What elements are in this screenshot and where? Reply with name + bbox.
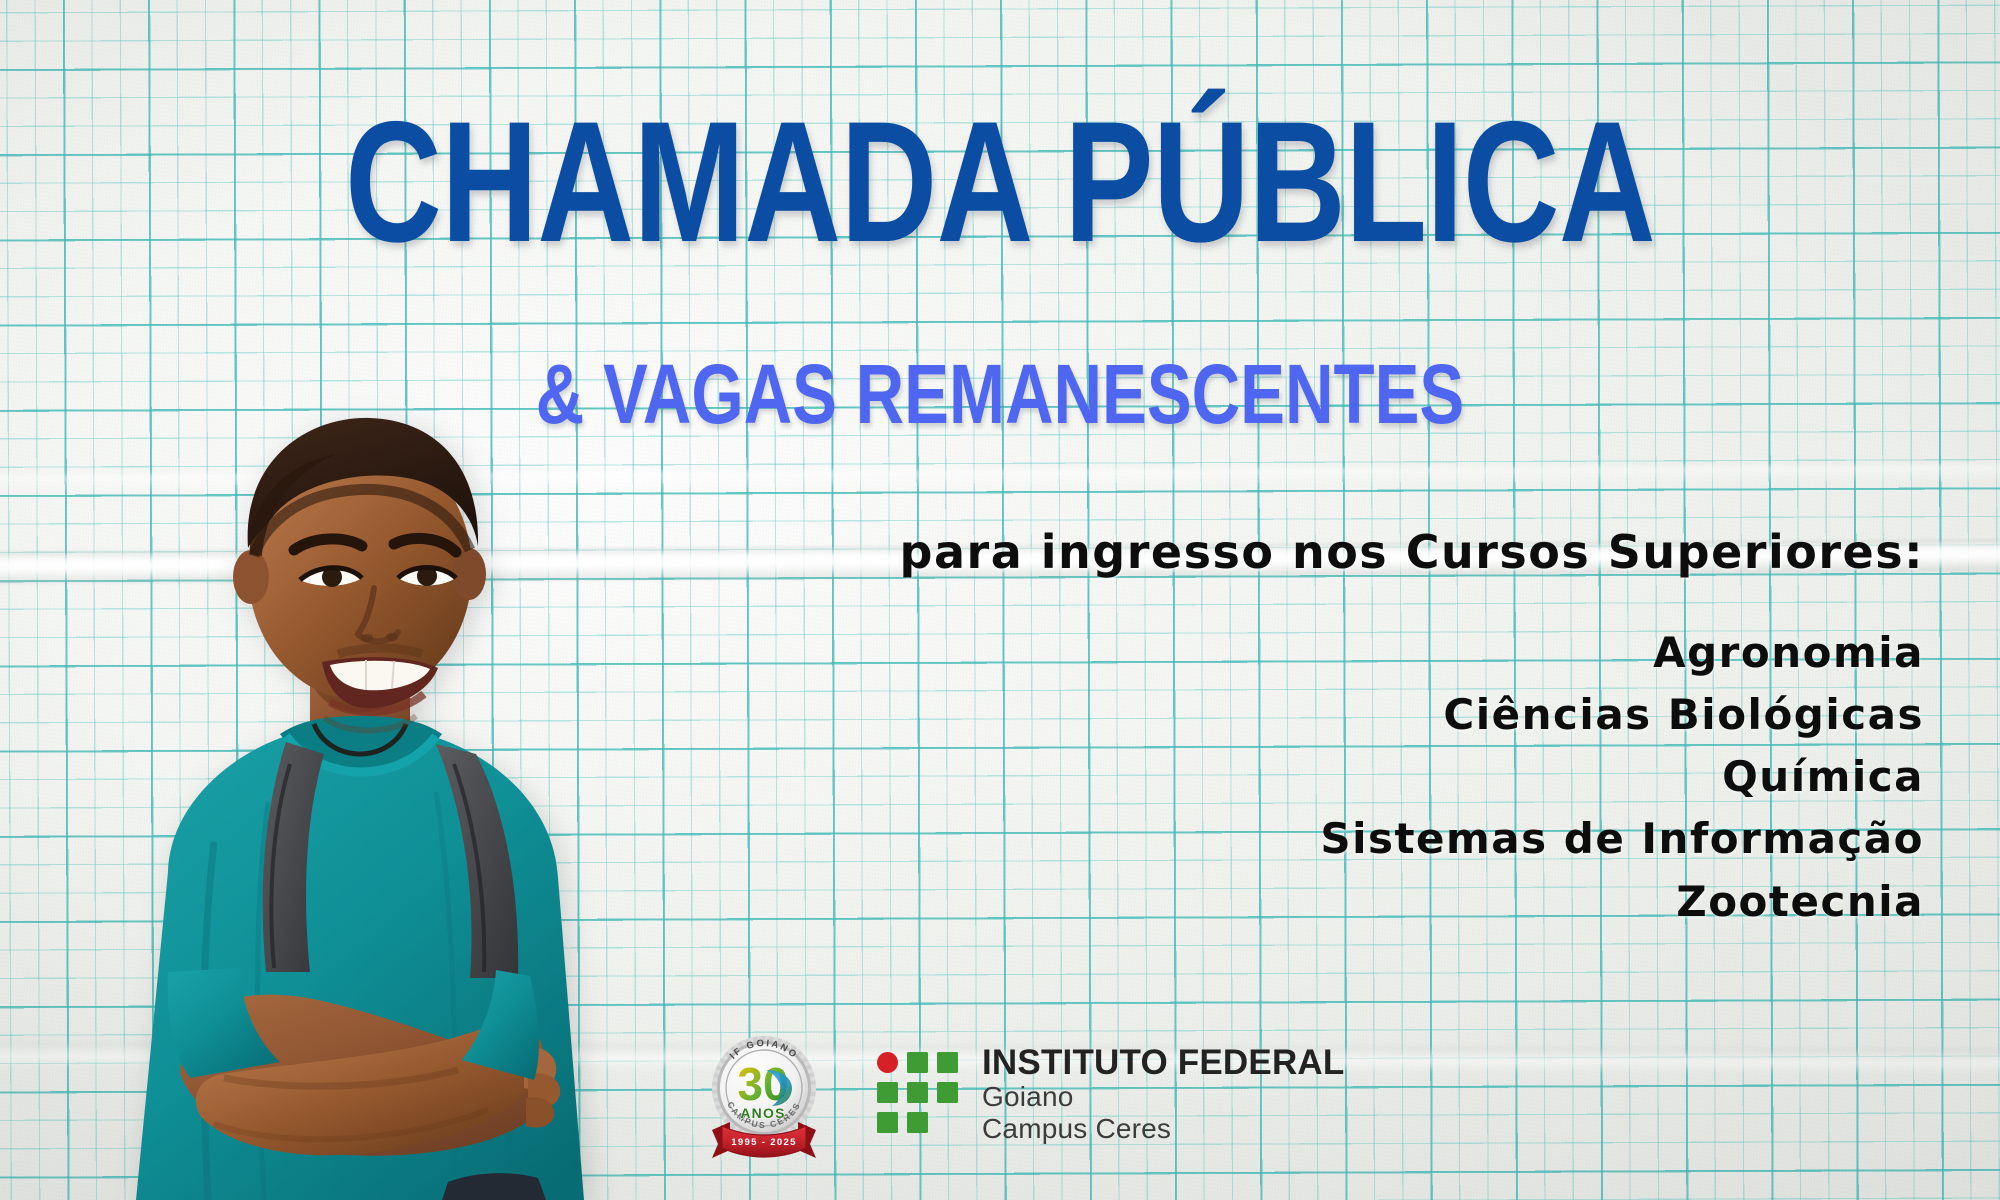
instituto-federal-logo: INSTITUTO FEDERAL Goiano Campus Ceres <box>874 1045 1344 1144</box>
thirty-years-seal-icon: IF GOIANO CAMPUS CERES 30 ANOS 1995 - 20… <box>700 1026 828 1162</box>
list-item: Zootecnia <box>1320 871 1924 933</box>
list-item: Ciências Biológicas <box>1320 684 1924 746</box>
student-photo <box>18 372 678 1200</box>
instituto-federal-wordmark: INSTITUTO FEDERAL Goiano Campus Ceres <box>982 1045 1344 1144</box>
page-subtitle: & VAGAS REMANESCENTES <box>200 352 1800 436</box>
poster-canvas: CHAMADA PÚBLICA & VAGAS REMANESCENTES pa… <box>0 0 2000 1200</box>
seal-word: ANOS <box>740 1105 785 1121</box>
seal-ribbon-text: 1995 - 2025 <box>731 1137 797 1148</box>
course-list: Agronomia Ciências Biológicas Química Si… <box>1320 622 1924 933</box>
logo-row: IF GOIANO CAMPUS CERES 30 ANOS 1995 - 20… <box>700 1026 1344 1162</box>
if-red-dot <box>877 1052 898 1073</box>
if-grid-mark-icon <box>874 1049 964 1139</box>
lead-line: para ingresso nos Cursos Superiores: <box>900 528 1924 576</box>
if-line-2: Goiano <box>982 1083 1344 1112</box>
list-item: Agronomia <box>1320 622 1924 684</box>
if-line-3: Campus Ceres <box>982 1115 1344 1144</box>
list-item: Química <box>1320 746 1924 808</box>
list-item: Sistemas de Informação <box>1320 808 1924 870</box>
if-line-1: INSTITUTO FEDERAL <box>982 1045 1344 1081</box>
page-title: CHAMADA PÚBLICA <box>220 96 1780 268</box>
